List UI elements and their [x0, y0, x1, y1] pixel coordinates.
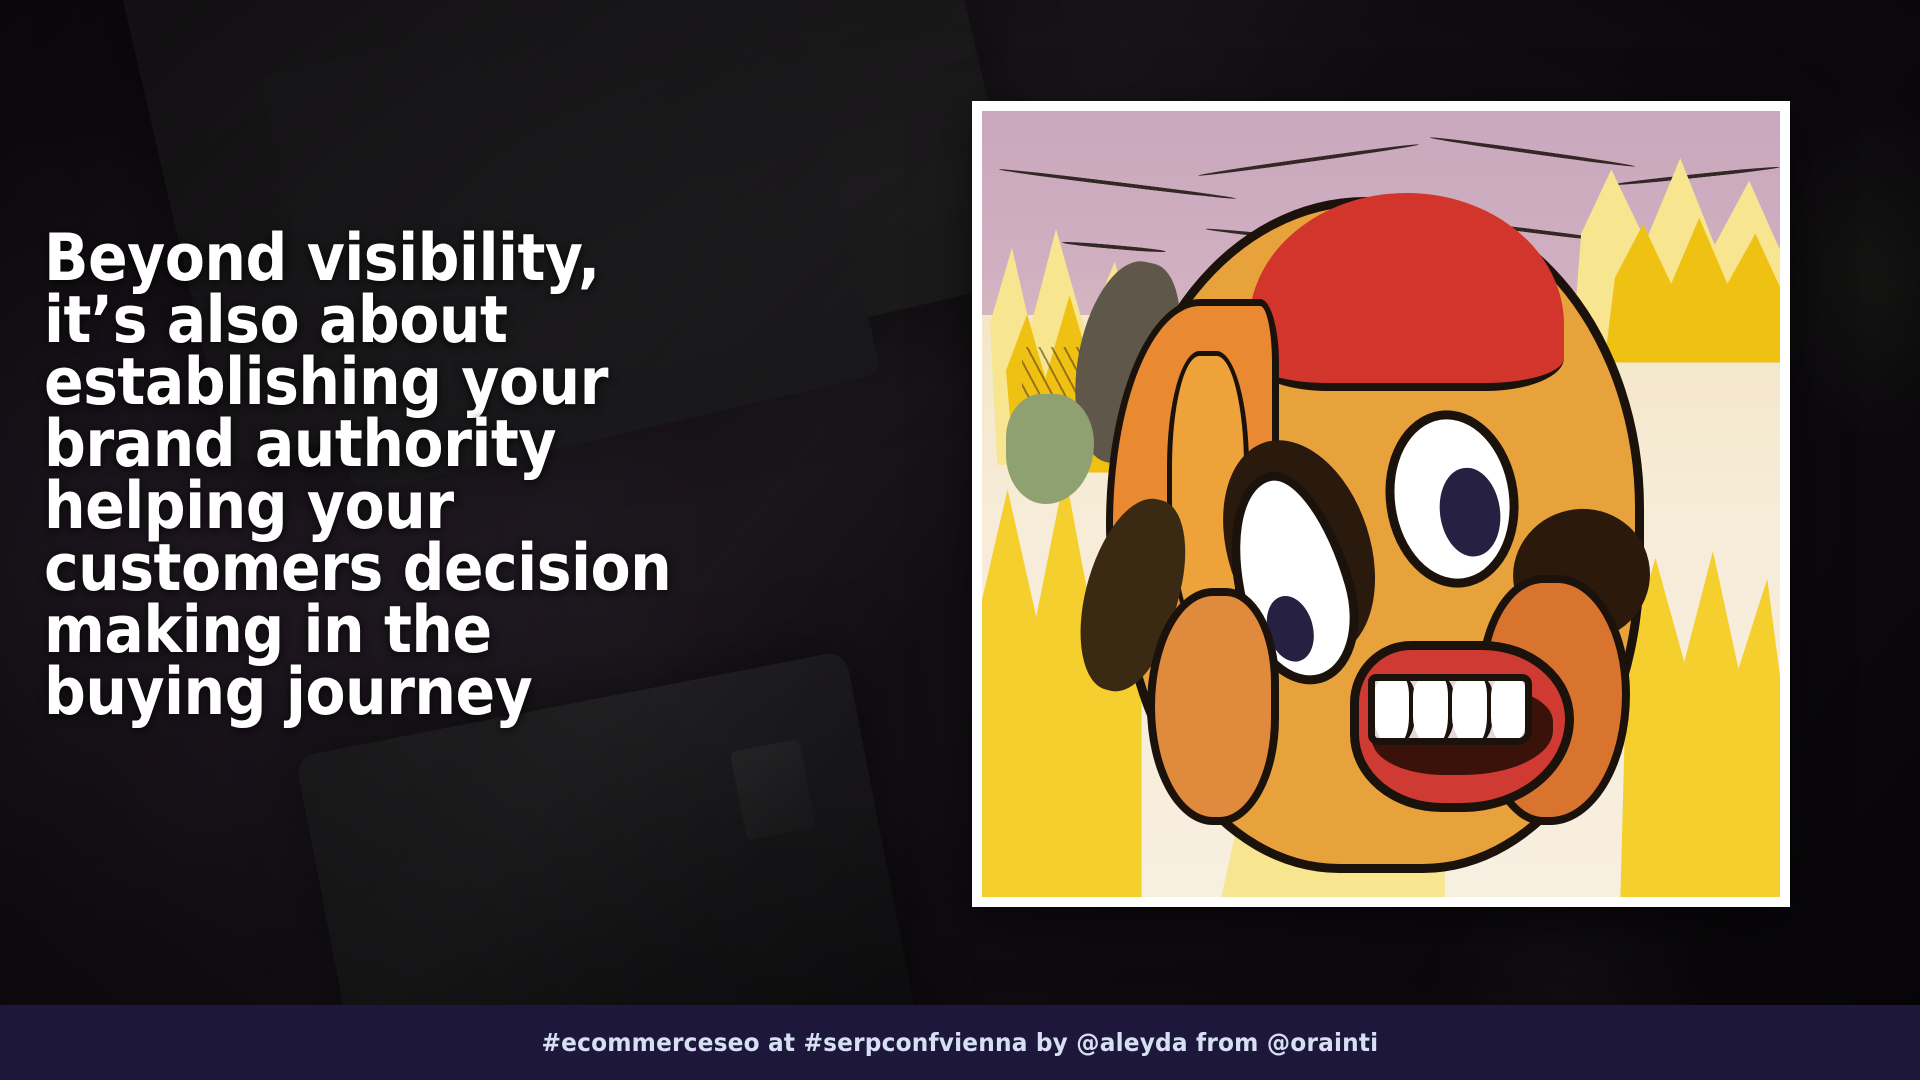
slide-headline: Beyond visibility, it’s also about estab… [44, 228, 782, 725]
meme-dog-tooth [1452, 678, 1493, 743]
footer-credit-text: #ecommerceseo at #serpconfvienna by @ale… [542, 1028, 1379, 1057]
meme-image [982, 111, 1780, 897]
meme-dog-pupil-right [1435, 464, 1506, 561]
meme-dog-tooth [1374, 678, 1415, 743]
meme-dog-snout-left [1147, 588, 1279, 825]
meme-dog-tooth [1413, 678, 1454, 743]
meme-dog-head [1118, 197, 1645, 873]
meme-dog-tooth [1491, 678, 1526, 743]
slide-footer: #ecommerceseo at #serpconfvienna by @ale… [0, 1005, 1920, 1080]
meme-dog-teeth [1368, 674, 1533, 744]
meme-image-frame [972, 101, 1790, 907]
presentation-slide: fn ctrl Beyond visibility, it’s also abo… [0, 0, 1920, 1080]
meme-dog-eye-right [1374, 402, 1530, 596]
